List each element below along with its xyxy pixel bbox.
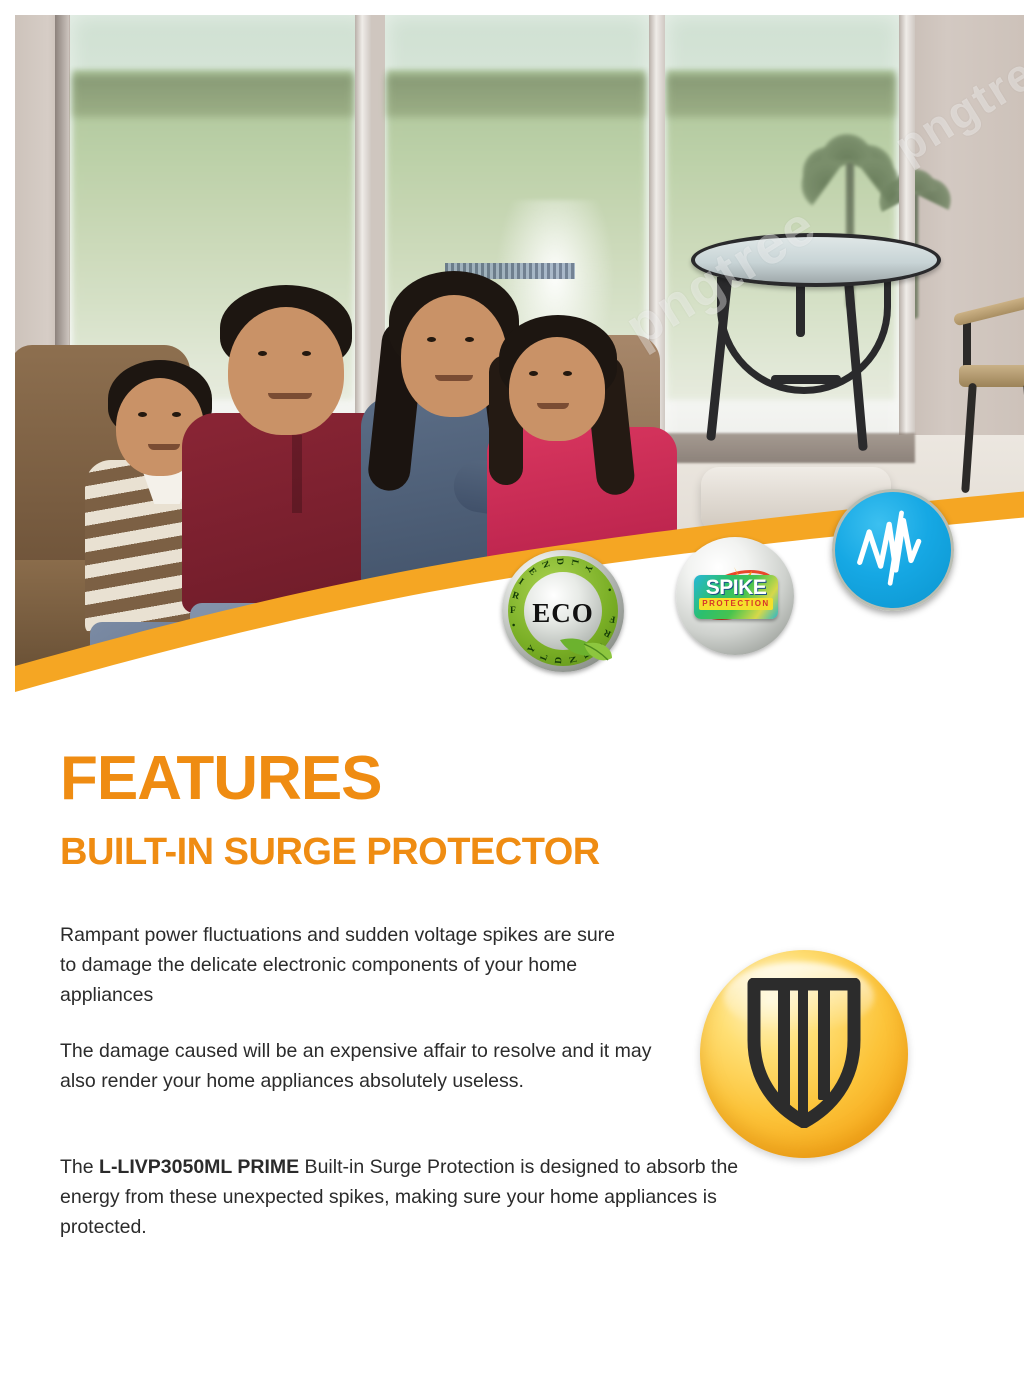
hedge-2 bbox=[387, 75, 645, 117]
product-model-name: L-LIVP3050ML PRIME bbox=[99, 1156, 299, 1178]
eco-friendly-badge: FRIENDLY • FRIENDLY • ECO bbox=[502, 550, 624, 672]
hedge-1 bbox=[73, 75, 353, 117]
voltage-spike-waveform-icon bbox=[835, 492, 951, 608]
spike-title: SPIKE bbox=[690, 576, 782, 600]
eco-ring-char: • bbox=[606, 583, 613, 593]
paragraph-3-pre: The bbox=[60, 1156, 99, 1178]
eco-ring-char: Y bbox=[526, 644, 538, 656]
eco-ring-char: F bbox=[609, 613, 616, 624]
page-title: FEATURES bbox=[60, 748, 382, 810]
eco-ring-char: L bbox=[539, 653, 551, 663]
eco-ring-char: • bbox=[511, 621, 517, 632]
eco-ring-char: F bbox=[510, 606, 516, 616]
spike-protection-badge: SPIKE PROTECTION bbox=[676, 537, 794, 655]
paragraph-1: Rampant power fluctuations and sudden vo… bbox=[60, 920, 620, 1010]
page-subtitle: BUILT-IN SURGE PROTECTOR bbox=[60, 833, 600, 871]
hedge-3 bbox=[667, 75, 895, 117]
cane-chair bbox=[953, 295, 1024, 495]
paragraph-3: The L-LIVP3050ML PRIME Built-in Surge Pr… bbox=[60, 1152, 740, 1242]
eco-badge-label: ECO bbox=[524, 598, 602, 629]
eco-ring-char: E bbox=[526, 566, 538, 577]
spike-logo: SPIKE PROTECTION bbox=[690, 567, 782, 625]
flyer-page: pngtree pngtree FRIENDLY • FRIENDLY • EC… bbox=[0, 0, 1024, 1389]
eco-ring-char: R bbox=[511, 591, 521, 603]
surge-protection-shield bbox=[700, 950, 908, 1158]
eco-ring-char: D bbox=[554, 558, 564, 566]
spike-subtitle: PROTECTION bbox=[699, 598, 773, 610]
leaf-icon bbox=[558, 634, 614, 668]
eco-badge-inner: ECO bbox=[524, 572, 602, 650]
paragraph-2: The damage caused will be an expensive a… bbox=[60, 1036, 660, 1096]
shield-icon bbox=[746, 978, 862, 1128]
eco-ring-char: Y bbox=[582, 563, 594, 574]
glass-top-table bbox=[691, 233, 941, 463]
eco-ring-char: L bbox=[569, 558, 580, 566]
voltage-waveform-badge bbox=[832, 489, 954, 611]
eco-ring-char: N bbox=[539, 560, 551, 570]
eco-ring-char: I bbox=[516, 577, 525, 587]
